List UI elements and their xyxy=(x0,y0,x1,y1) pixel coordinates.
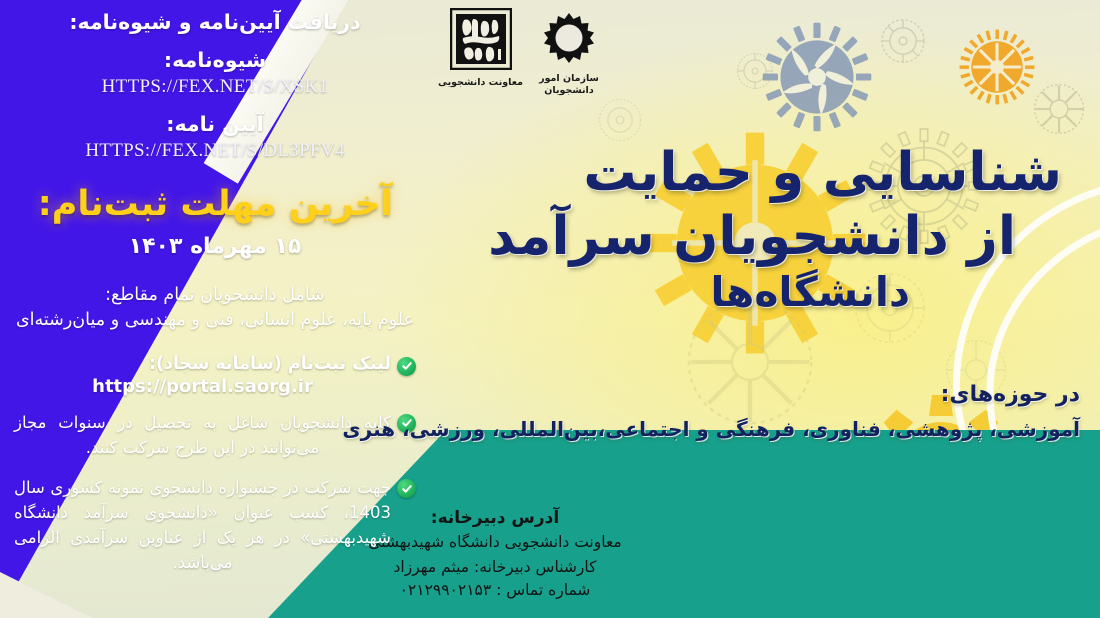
square-calligraphy-logo-icon xyxy=(450,8,512,74)
list-item: لینک ثبت‌نام (سامانه سجاد): https://port… xyxy=(14,354,416,397)
page-title: شناسایی و حمایت از دانشجویان سرآمد دانشگ… xyxy=(482,146,1082,314)
eligibility-detail: علوم پایه، علوم انسانی، فنی و مهندسی و م… xyxy=(14,308,416,333)
eligibility-note: کلیه دانشجویان شاغل به تحصیل در سنوات مج… xyxy=(14,411,391,461)
list-item: جهت شرکت در جشنواره دانشجوی نمونه کشوری … xyxy=(14,476,416,575)
list-item-text: لینک ثبت‌نام (سامانه سجاد): https://port… xyxy=(14,354,391,397)
download-item-regulation: آیین نامه: HTTPS://FEX.NET/S/DL3PFV4 xyxy=(14,112,416,162)
gear-icon-outline-tiny-1 xyxy=(726,42,784,100)
eligibility-section: شامل دانشجویان تمام مقاطع: علوم پایه، عل… xyxy=(14,283,416,334)
download-label-guideline: شیوه‌نامه: xyxy=(14,48,416,72)
fields-section: در حوزه‌های: آموزشی، پژوهشی، فناوری، فره… xyxy=(440,382,1080,441)
download-url-regulation[interactable]: HTTPS://FEX.NET/S/DL3PFV4 xyxy=(14,140,416,162)
checklist: لینک ثبت‌نام (سامانه سجاد): https://port… xyxy=(14,354,416,576)
fields-list: آموزشی، پژوهشی، فناوری، فرهنگی و اجتماعی… xyxy=(440,417,1080,441)
download-item-guideline: شیوه‌نامه: HTTPS://FEX.NET/S/XSK1 xyxy=(14,48,416,98)
downloads-heading: دریافت آیین‌نامه و شیوه‌نامه: xyxy=(14,10,416,34)
fields-heading: در حوزه‌های: xyxy=(440,382,1080,407)
downloads-section: دریافت آیین‌نامه و شیوه‌نامه: شیوه‌نامه:… xyxy=(14,10,416,162)
poster-canvas: معاونت دانشجویی سازمان امور دانشجویان شن… xyxy=(0,0,1100,618)
student-affairs-logo-caption: سازمان امور دانشجویان xyxy=(539,73,599,97)
download-url-guideline[interactable]: HTTPS://FEX.NET/S/XSK1 xyxy=(14,76,416,98)
festival-requirement-note: جهت شرکت در جشنواره دانشجوی نمونه کشوری … xyxy=(14,476,391,575)
info-panel-content: دریافت آیین‌نامه و شیوه‌نامه: شیوه‌نامه:… xyxy=(0,0,430,618)
title-line-2: از دانشجویان سرآمد xyxy=(482,210,1082,264)
check-circle-icon xyxy=(397,479,416,498)
shahid-beheshti-university-logo: معاونت دانشجویی xyxy=(438,8,523,89)
deadline-section: آخرین مهلت ثبت‌نام: ۱۵ مهرماه ۱۴۰۳ xyxy=(14,184,416,259)
shahid-beheshti-logo-caption: معاونت دانشجویی xyxy=(438,77,523,89)
deadline-date: ۱۵ مهرماه ۱۴۰۳ xyxy=(14,234,416,259)
registration-link-url[interactable]: https://portal.saorg.ir xyxy=(14,376,391,397)
eligibility-heading: شامل دانشجویان تمام مقاطع: xyxy=(14,283,416,308)
download-label-regulation: آیین نامه: xyxy=(14,112,416,136)
title-line-1: شناسایی و حمایت xyxy=(482,146,1082,200)
deadline-heading: آخرین مهلت ثبت‌نام: xyxy=(14,184,416,224)
student-affairs-organization-logo: سازمان امور دانشجویان xyxy=(539,8,599,97)
check-circle-icon xyxy=(397,357,416,376)
registration-link-label: لینک ثبت‌نام (سامانه سجاد): xyxy=(149,354,391,374)
logo-group: معاونت دانشجویی سازمان امور دانشجویان xyxy=(438,8,599,97)
title-line-3: دانشگاه‌ها xyxy=(482,272,1082,314)
starburst-logo-icon xyxy=(539,10,599,70)
